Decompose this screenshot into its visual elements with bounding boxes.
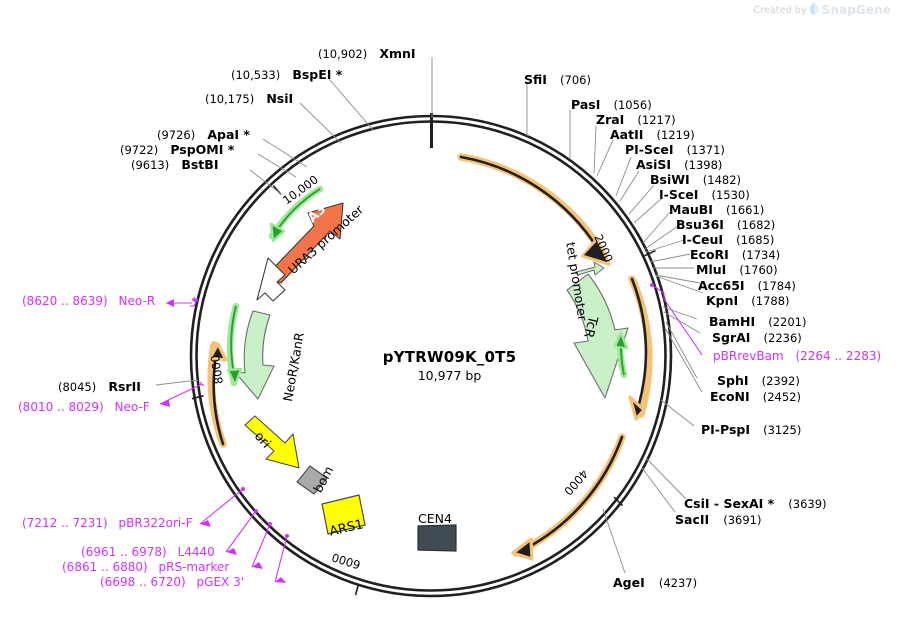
enzyme-pos-bsu36i: (1682) xyxy=(737,218,775,232)
enzyme-name-bspei: BspEI * xyxy=(292,67,342,82)
primer-range-pgex-3prime: (6698 .. 6720) xyxy=(100,575,186,589)
enzyme-name-econi: EcoNI xyxy=(710,389,750,404)
primer-range-l4440: (6961 .. 6978) xyxy=(81,545,167,559)
enzyme-name-nsii: NsiI xyxy=(266,91,293,106)
enzyme-label-sgrai: SgrAI (2236) xyxy=(712,329,802,345)
enzyme-pos-i-ceui: (1685) xyxy=(736,233,774,247)
primer-name-prs-marker: pRS-marker xyxy=(159,560,230,574)
enzyme-label-apai: (9726) ApaI * xyxy=(157,126,250,142)
enzyme-label-csii-sexai: CsiI - SexAI * (3639) xyxy=(684,495,827,511)
feature-label-cen4-text: CEN4 xyxy=(418,511,452,526)
primer-range-neo-f: (8010 .. 8029) xyxy=(18,400,104,414)
primer-label-neo-f: (8010 .. 8029) Neo-F xyxy=(18,401,150,413)
enzyme-label-nsii: (10,175) NsiI xyxy=(205,90,293,106)
enzyme-name-pi-scei: PI-SceI xyxy=(625,142,674,157)
enzyme-name-rsrii: RsrII xyxy=(108,379,141,394)
enzyme-name-pasi: PasI xyxy=(571,97,600,112)
enzyme-pos-kpni: (1788) xyxy=(751,294,789,308)
enzyme-label-sphi: SphI (2392) xyxy=(717,372,800,388)
enzyme-name-apai: ApaI * xyxy=(207,127,250,142)
enzyme-pos-ecori: (1734) xyxy=(742,248,780,262)
enzyme-label-maubi: MauBI (1661) xyxy=(669,201,764,217)
enzyme-name-xmni: XmnI xyxy=(379,46,415,61)
enzyme-label-pasi: PasI (1056) xyxy=(571,96,652,112)
enzyme-name-i-scei: I-SceI xyxy=(659,187,698,202)
primer-name-pbr322ori-f: pBR322ori-F xyxy=(119,516,193,530)
enzyme-label-bstbi: (9613) BstBI xyxy=(131,156,218,172)
enzyme-label-sacii: SacII (3691) xyxy=(675,511,762,527)
enzyme-pos-pi-scei: (1371) xyxy=(687,143,725,157)
primer-range-pbrrevbam: (2264 .. 2283) xyxy=(795,349,881,363)
primer-label-prs-marker: (6861 .. 6880) pRS-marker xyxy=(62,561,229,573)
primer-label-neo-r: (8620 .. 8639) Neo-R xyxy=(22,295,155,307)
enzyme-pos-csii-sexai: (3639) xyxy=(788,497,826,511)
enzyme-label-bsiwi: BsiWI (1482) xyxy=(650,171,741,187)
enzyme-pos-pasi: (1056) xyxy=(613,98,651,112)
enzyme-label-pi-pspi: PI-PspI (3125) xyxy=(701,421,801,437)
enzyme-pos-agei: (4237) xyxy=(659,576,697,590)
enzyme-pos-nsii: (10,175) xyxy=(205,92,254,106)
enzyme-pos-xmni: (10,902) xyxy=(318,47,367,61)
feature-cen4 xyxy=(418,525,456,551)
primer-label-pbr322ori-f: (7212 .. 7231) pBR322ori-F xyxy=(22,517,192,529)
leader-line-pi-pspi xyxy=(661,400,694,426)
enzyme-pos-acc65i: (1784) xyxy=(758,279,796,293)
primer-label-pbrrevbam: pBRrevBam (2264 .. 2283) xyxy=(713,350,881,362)
enzyme-pos-bstbi: (9613) xyxy=(131,158,169,172)
primer-range-pbr322ori-f: (7212 .. 7231) xyxy=(22,516,108,530)
enzyme-name-i-ceui: I-CeuI xyxy=(682,232,723,247)
enzyme-label-pspomi: (9722) PspOMI * xyxy=(120,141,234,157)
enzyme-pos-pspomi: (9722) xyxy=(120,143,158,157)
enzyme-name-mlui: MluI xyxy=(696,262,726,277)
enzyme-label-acc65i: Acc65I (1784) xyxy=(698,277,796,293)
enzyme-label-rsrii: (8045) RsrII xyxy=(58,378,141,394)
enzyme-label-econi: EcoNI (2452) xyxy=(710,388,801,404)
primer-range-prs-marker: (6861 .. 6880) xyxy=(62,560,148,574)
enzyme-label-asisi: AsiSI (1398) xyxy=(636,156,722,172)
enzyme-name-csii-sexai: CsiI - SexAI * xyxy=(684,496,774,511)
primer-name-pbrrevbam: pBRrevBam xyxy=(713,349,784,363)
enzyme-name-pspomi: PspOMI * xyxy=(170,142,234,157)
primer-name-neo-r: Neo-R xyxy=(119,294,156,308)
enzyme-pos-econi: (2452) xyxy=(763,390,801,404)
enzyme-pos-bspei: (10,533) xyxy=(231,68,280,82)
enzyme-pos-sfii: (706) xyxy=(560,73,591,87)
feature-label-cen4: CEN4 xyxy=(418,511,452,526)
enzyme-name-bsu36i: Bsu36I xyxy=(676,217,724,232)
enzyme-name-ecori: EcoRI xyxy=(690,247,729,262)
enzyme-pos-sphi: (2392) xyxy=(762,374,800,388)
enzyme-label-bspei: (10,533) BspEI * xyxy=(231,66,342,82)
enzyme-label-kpni: KpnI (1788) xyxy=(706,292,790,308)
enzyme-label-agei: AgeI (4237) xyxy=(613,574,697,590)
enzyme-label-bamhi: BamHI (2201) xyxy=(709,313,806,329)
enzyme-pos-bamhi: (2201) xyxy=(768,315,806,329)
enzyme-pos-rsrii: (8045) xyxy=(58,380,96,394)
enzyme-name-pi-pspi: PI-PspI xyxy=(701,422,750,437)
enzyme-name-agei: AgeI xyxy=(613,575,645,590)
primer-range-neo-r: (8620 .. 8639) xyxy=(22,294,108,308)
enzyme-pos-sgrai: (2236) xyxy=(764,331,802,345)
enzyme-label-zrai: ZraI (1217) xyxy=(596,111,676,127)
enzyme-pos-sacii: (3691) xyxy=(723,513,761,527)
primer-label-pgex-3prime: (6698 .. 6720) pGEX 3' xyxy=(100,576,244,588)
enzyme-name-bstbi: BstBI xyxy=(181,157,218,172)
leader-lines-top xyxy=(250,57,703,293)
enzyme-label-mlui: MluI (1760) xyxy=(696,261,778,277)
enzyme-name-asisi: AsiSI xyxy=(636,157,671,172)
enzyme-pos-bsiwi: (1482) xyxy=(703,173,741,187)
enzyme-label-aatii: AatII (1219) xyxy=(610,126,695,142)
plasmid-map-canvas: Created by SnapGene .bb{fill:none;stroke… xyxy=(0,0,899,618)
enzyme-label-xmni: (10,902) XmnI xyxy=(318,45,416,61)
enzyme-name-maubi: MauBI xyxy=(669,202,713,217)
enzyme-name-bamhi: BamHI xyxy=(709,314,755,329)
enzyme-pos-pi-pspi: (3125) xyxy=(763,423,801,437)
primer-label-l4440: (6961 .. 6978) L4440 xyxy=(81,546,215,558)
enzyme-label-sfii: SfiI (706) xyxy=(524,71,591,87)
enzyme-name-zrai: ZraI xyxy=(596,112,624,127)
primer-name-l4440: L4440 xyxy=(178,545,215,559)
enzyme-name-sphi: SphI xyxy=(717,373,749,388)
primer-name-neo-f: Neo-F xyxy=(115,400,150,414)
enzyme-label-i-scei: I-SceI (1530) xyxy=(659,186,750,202)
enzyme-name-kpni: KpnI xyxy=(706,293,738,308)
enzyme-name-sfii: SfiI xyxy=(524,72,547,87)
enzyme-name-bsiwi: BsiWI xyxy=(650,172,690,187)
primer-name-pgex-3prime: pGEX 3' xyxy=(197,575,244,589)
enzyme-name-sacii: SacII xyxy=(675,512,709,527)
enzyme-label-ecori: EcoRI (1734) xyxy=(690,246,780,262)
enzyme-name-aatii: AatII xyxy=(610,127,643,142)
enzyme-name-sgrai: SgrAI xyxy=(712,330,750,345)
enzyme-pos-maubi: (1661) xyxy=(726,203,764,217)
